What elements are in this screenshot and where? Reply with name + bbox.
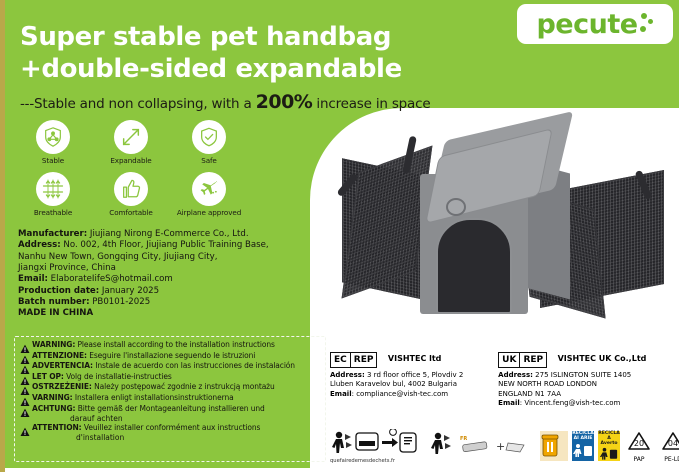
stable-icon [36,120,70,154]
warning-text-7: Veuillez installer conformément aux inst… [82,423,261,432]
warning-triangle-icon [20,424,30,434]
ec-rep-details: Address: 3 rd floor office 5, Plovdiv 2 … [330,371,490,399]
warning-text-3: Volg de installatie-instructies [64,372,172,381]
feature-airplane-label: Airplane approved [170,208,248,217]
warning-triangle-icon [20,394,30,404]
uk-rep-tag-region: UK [499,353,519,367]
feature-icon-grid: Stable Expandable Safe [14,120,264,224]
address-value-1: No. 002, 4th Floor, Jiujiang Public Trai… [61,240,269,250]
svg-text:20: 20 [634,439,644,448]
manufacturer-label: Manufacturer: [18,229,87,239]
ec-rep-tag-region: EC [331,353,350,367]
warning-text-0: Please install according to the installa… [75,340,275,349]
expandable-pet-carrier-photo [328,122,676,340]
warning-triangle-icon [20,405,30,415]
ec-rep-block: EC REP VISHTEC ltd Address: 3 rd floor o… [330,352,490,414]
email-label: Email: [18,274,48,284]
email-value: ElaborateIifeS@hotmail.com [48,274,173,284]
quefaire-caption: quefairedemesdechets.fr [330,458,395,464]
ec-rep-email-label: Email [330,390,352,398]
warning-triangle-icon [20,362,30,372]
production-date-line: Production date: January 2025 [18,286,323,297]
uk-rep-details: Address: 275 ISLINGTON SUITE 1405 NEW NO… [498,371,672,409]
warning-row: LET OP: Volg de installatie-instructies [18,373,322,383]
page-title: Super stable pet handbag +double-sided e… [20,22,490,85]
recycling-symbol-strip: quefairedemesdechets.fr FR [330,424,675,468]
resin-20-label: PAP [624,456,654,463]
title-line-1: Super stable pet handbag [20,22,391,52]
recicla-blue-line2: AI ARIE [574,437,593,442]
warning-triangle-icon [20,352,30,362]
manufacturer-line: Manufacturer: Jiujiang Nirong E-Commerce… [18,229,323,240]
resin-04-label: PE-LD [658,456,679,463]
warning-lang-4: OSTRZEŻENIE: [32,382,92,391]
uk-rep-email-label: Email [498,399,520,407]
feature-expandable: Expandable [92,120,170,172]
ec-rep-company: VISHTEC ltd [388,354,442,363]
uk-rep-address-line2: NEW NORTH ROAD LONDON [498,380,672,389]
recicla-yellow-line2: A Averto [598,437,620,447]
recicla-yellow-badge: RECICLA A Averto [598,431,620,461]
manufacturer-value: Jiujiang Nirong E-Commerce Co., Ltd. [87,229,248,239]
batch-number-line: Batch number: PB0101-2025 [18,297,323,308]
warning-text-5: Installera enligt installationsinstrukti… [73,393,234,402]
packaging-bin-icon: FR + [456,431,568,461]
warning-triangle-icon [20,373,30,383]
feature-comfortable: Comfortable [92,172,170,224]
feature-comfortable-label: Comfortable [92,208,170,217]
made-in-label: MADE IN CHINA [18,308,323,319]
warning-row: ACHTUNG: Bitte gemäß der Montageanleitun… [18,405,322,415]
subtitle-prefix: ---Stable and non collapsing, with a [20,96,256,112]
batch-number-label: Batch number: [18,297,90,307]
brand-logo-dots-icon [640,13,654,37]
uk-rep-company: VISHTEC UK Co.,Ltd [558,354,647,363]
warning-lang-2: ADVERTENCIA: [32,361,93,370]
warning-row: VARNING: Installera enligt installations… [18,394,322,404]
warning-row: ATTENZIONE: Eseguire l'installazione seg… [18,352,322,362]
warning-row: WARNING: Please install according to the… [18,341,322,351]
manufacturer-details: Manufacturer: Jiujiang Nirong E-Commerce… [18,229,323,320]
warning-text-6: Bitte gemäß der Montageanleitung install… [75,404,264,413]
multilingual-warning-box: WARNING: Please install according to the… [14,336,326,462]
svg-text:FR: FR [460,436,467,442]
brand-logo: pecute [517,4,673,44]
triman-sorting-icon: quefairedemesdechets.fr [330,429,426,463]
brand-logo-word: pecute [536,9,637,40]
ec-rep-address-line1: 3 rd floor office 5, Plovdiv 2 [365,371,464,379]
sorting-instruction-icon [430,430,452,463]
airplane-icon [192,172,226,206]
address-line-3: Jiangxi Province, China [18,263,323,274]
ec-rep-tag-rep: REP [350,353,377,367]
feature-expandable-label: Expandable [92,156,170,165]
svg-text:04: 04 [668,439,678,448]
feature-safe-label: Safe [170,156,248,165]
uk-rep-tag-rep: REP [519,353,546,367]
warning-continuation-7: d'installation [76,434,322,442]
feature-stable-label: Stable [14,156,92,165]
ec-rep-address-label: Address: [330,371,365,379]
warning-row: ATTENTION: Veuillez installer conforméme… [18,424,322,434]
resin-code-20-pap: 20 PAP [624,430,654,463]
warning-triangle-icon [20,383,30,393]
comfortable-icon [114,172,148,206]
warning-lang-3: LET OP: [32,372,64,381]
title-line-2: +double-sided expandable [20,54,490,86]
product-photo-panel: EC REP VISHTEC ltd Address: 3 rd floor o… [310,108,679,472]
email-line: Email: ElaborateIifeS@hotmail.com [18,274,323,285]
batch-number-value: PB0101-2025 [90,297,151,307]
safe-icon [192,120,226,154]
authorised-representatives: EC REP VISHTEC ltd Address: 3 rd floor o… [330,352,672,414]
uk-rep-address-line3: ENGLAND N1 7AA [498,390,672,399]
left-edge-strip [0,0,5,472]
ec-rep-email-value: : compliance@vish-tec.com [352,390,449,398]
subtitle-highlight: 200% [256,91,313,113]
brand-logo-text: pecute [536,11,653,38]
warning-lang-0: WARNING: [32,340,75,349]
uk-rep-address-label: Address: [498,371,533,379]
warning-lang-1: ATTENZIONE: [32,351,87,360]
warning-lang-6: ACHTUNG: [32,404,75,413]
resin-code-04-peld: 04 PE-LD [658,430,679,463]
feature-safe: Safe [170,120,248,172]
expandable-icon [114,120,148,154]
ec-rep-address-line2: Lluben Karavelov bul, 4002 Bulgaria [330,380,490,389]
uk-rep-email-value: : Vincent.feng@vish-tec.com [520,399,621,407]
warning-row: ADVERTENCIA: Instale de acuerdo con las … [18,362,322,372]
uk-rep-address-line1: 275 ISLINGTON SUITE 1405 [533,371,631,379]
carrier-latch [446,198,466,216]
svg-text:+: + [496,440,505,453]
bottom-edge-strip [0,468,679,472]
feature-breathable: Breathable [14,172,92,224]
uk-rep-block: UK REP VISHTEC UK Co.,Ltd Address: 275 I… [498,352,672,414]
warning-triangle-icon [20,341,30,351]
production-date-value: January 2025 [99,286,159,296]
warning-row: OSTRZEŻENIE: Należy postępować zgodnie z… [18,383,322,393]
feature-breathable-label: Breathable [14,208,92,217]
recicla-blue-badge: RECICLA AI ARIE [572,431,594,461]
subtitle-suffix: increase in space [312,96,430,112]
warning-text-1: Eseguire l'installazione seguendo le ist… [87,351,255,360]
product-package-label: EC REP VISHTEC ltd Address: 3 rd floor o… [0,0,679,472]
warning-lang-5: VARNING: [32,393,73,402]
production-date-label: Production date: [18,286,99,296]
warning-text-2: Instale de acuerdo con las instrucciones… [93,361,295,370]
feature-airplane-approved: Airplane approved [170,172,248,224]
address-line-1: Address: No. 002, 4th Floor, Jiujiang Pu… [18,240,323,251]
uk-rep-tag: UK REP [498,352,547,368]
warning-text-4: Należy postępować zgodnie z instrukcją m… [92,382,275,391]
subtitle: ---Stable and non collapsing, with a 200… [20,91,430,113]
carrier-mesh-door [436,218,512,314]
warning-lang-7: ATTENTION: [32,423,82,432]
breathable-icon [36,172,70,206]
address-label: Address: [18,240,61,250]
address-line-2: Nanhu New Town, Gongqing City, Jiujiang … [18,252,323,263]
feature-stable: Stable [14,120,92,172]
ec-rep-tag: EC REP [330,352,377,368]
